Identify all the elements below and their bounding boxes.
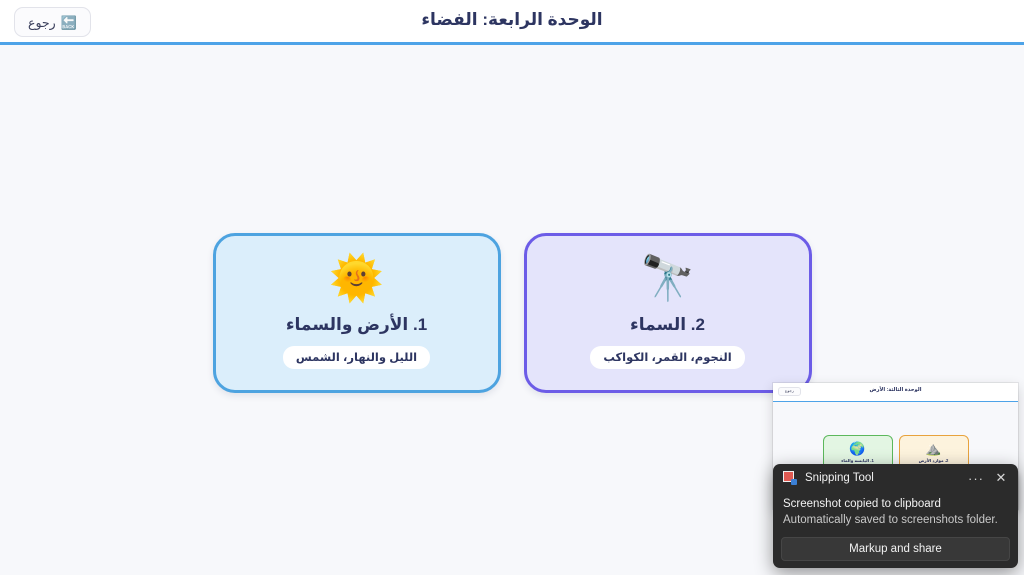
globe-icon: 🌍 <box>849 442 865 455</box>
back-button[interactable]: 🔙 رجوع <box>14 7 91 37</box>
snipping-toast-secondary-text: Automatically saved to screenshots folde… <box>783 512 1008 528</box>
unit-cards-row: 🔭 2. السماء النجوم، القمر، الكواكب 🌞 1. … <box>0 233 1024 393</box>
nested-page-title: الوحدة الثالثة: الأرض <box>773 387 1018 393</box>
telescope-icon: 🔭 <box>640 257 695 301</box>
snipping-toast-body: Screenshot copied to clipboard Automatic… <box>773 492 1018 528</box>
markup-and-share-button[interactable]: Markup and share <box>781 537 1010 561</box>
nested-card-title: 2. موارد الأرض <box>919 458 949 463</box>
unit-card-subtitle: النجوم، القمر، الكواكب <box>590 346 744 369</box>
nested-card-title: 1. اليابسة والماء <box>841 458 874 463</box>
unit-card-sky[interactable]: 🔭 2. السماء النجوم، القمر، الكواكب <box>524 233 812 393</box>
snipping-tool-app-name: Snipping Tool <box>805 472 874 484</box>
unit-card-earth-sky[interactable]: 🌞 1. الأرض والسماء الليل والنهار، الشمس <box>213 233 501 393</box>
snipping-toast-header: Snipping Tool ··· ✕ <box>773 464 1018 492</box>
unit-card-title: 1. الأرض والسماء <box>286 315 427 335</box>
back-arrow-icon: 🔙 <box>61 16 77 29</box>
back-button-label: رجوع <box>28 15 56 30</box>
sun-icon: 🌞 <box>329 257 384 301</box>
close-icon[interactable]: ✕ <box>990 464 1012 492</box>
page-title: الوحدة الرابعة: الفضاء <box>0 10 1024 30</box>
nested-back-button: رجوع <box>778 387 801 396</box>
nested-header: الوحدة الثالثة: الأرض رجوع <box>773 383 1018 402</box>
unit-card-subtitle: الليل والنهار، الشمس <box>283 346 430 369</box>
unit-card-title: 2. السماء <box>630 315 705 335</box>
snipping-tool-notification: Snipping Tool ··· ✕ Screenshot copied to… <box>773 464 1018 568</box>
snipping-tool-icon <box>783 471 797 485</box>
app-header: الوحدة الرابعة: الفضاء 🔙 رجوع <box>0 0 1024 45</box>
more-options-icon[interactable]: ··· <box>966 464 986 492</box>
snipping-toast-primary-text: Screenshot copied to clipboard <box>783 496 1008 512</box>
mountain-icon: ⛰️ <box>925 442 941 455</box>
